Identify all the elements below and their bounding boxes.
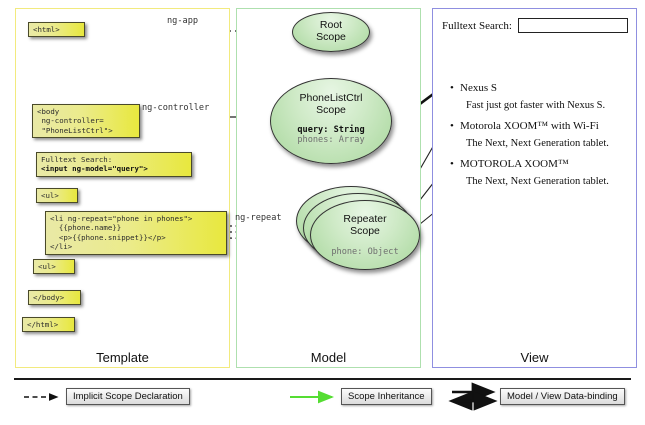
legend-glyph-databinding (452, 392, 494, 401)
scope-root-line1: Root (293, 19, 369, 31)
legend-divider (14, 378, 631, 380)
panel-label-template: Template (16, 350, 229, 365)
bullet-icon: • (450, 158, 454, 170)
bullet-icon: • (450, 120, 454, 132)
scope-root: Root Scope (292, 12, 370, 52)
view-search-label: Fulltext Search: (442, 20, 512, 32)
list-item-snippet: The Next, Next Generation tablet. (466, 138, 630, 149)
scope-repeater-prop-phone: phone: Object (311, 247, 419, 257)
list-item-title: Nexus S (460, 82, 497, 94)
edge-label-ng-app: ng-app (167, 16, 198, 26)
legend-model-view-data-binding: Model / View Data-binding (500, 388, 625, 405)
legend-scope-inheritance: Scope Inheritance (341, 388, 432, 405)
code-line-label: Fulltext Search: (41, 155, 112, 164)
code-box-body-open: <body ng-controller= "PhoneListCtrl"> (32, 104, 140, 138)
legend-implicit-scope-declaration: Implicit Scope Declaration (66, 388, 190, 405)
code-box-fulltext-search: Fulltext Search: <input ng-model="query"… (36, 152, 192, 177)
scope-ctrl-line1: PhoneListCtrl (271, 92, 391, 104)
code-line-input: <input ng-model="query"> (41, 164, 148, 173)
code-box-html-open: <html> (28, 22, 85, 37)
code-box-html-close: </html> (22, 317, 75, 332)
list-item-snippet: Fast just got faster with Nexus S. (466, 100, 630, 111)
bullet-icon: • (450, 82, 454, 94)
list-item-snippet: The Next, Next Generation tablet. (466, 176, 630, 187)
panel-label-model: Model (237, 350, 420, 365)
list-item[interactable]: • Motorola XOOM™ with Wi-Fi (460, 120, 630, 132)
edge-label-ng-repeat: ng-repeat (235, 213, 282, 223)
code-box-ul-close: <ul> (33, 259, 75, 274)
list-item-title: Motorola XOOM™ with Wi-Fi (460, 120, 599, 132)
code-box-body-close: </body> (28, 290, 81, 305)
list-item-title: MOTOROLA XOOM™ (460, 158, 569, 170)
edge-label-ng-controller: ng-controller (142, 103, 209, 113)
scope-repeater-line2: Scope (311, 225, 419, 237)
scope-ctrl-line2: Scope (271, 104, 391, 116)
panel-label-view: View (433, 350, 636, 365)
scope-repeater: Repeater Scope phone: Object (310, 200, 420, 270)
scope-repeater-line1: Repeater (311, 213, 419, 225)
search-input[interactable] (518, 18, 628, 33)
code-box-ul-open: <ul> (36, 188, 78, 203)
list-item[interactable]: • MOTOROLA XOOM™ (460, 158, 630, 170)
diagram-canvas: Template Model View <html> <body ng-cont… (0, 0, 645, 425)
code-box-li-ng-repeat: <li ng-repeat="phone in phones"> {{phone… (45, 211, 227, 255)
scope-root-line2: Scope (293, 31, 369, 43)
view-phone-list: • Nexus S Fast just got faster with Nexu… (460, 82, 630, 196)
list-item[interactable]: • Nexus S (460, 82, 630, 94)
scope-phonelistctrl: PhoneListCtrl Scope query: String phones… (270, 78, 392, 164)
scope-ctrl-prop-query: query: String (271, 125, 391, 135)
scope-ctrl-prop-phones: phones: Array (271, 135, 391, 145)
